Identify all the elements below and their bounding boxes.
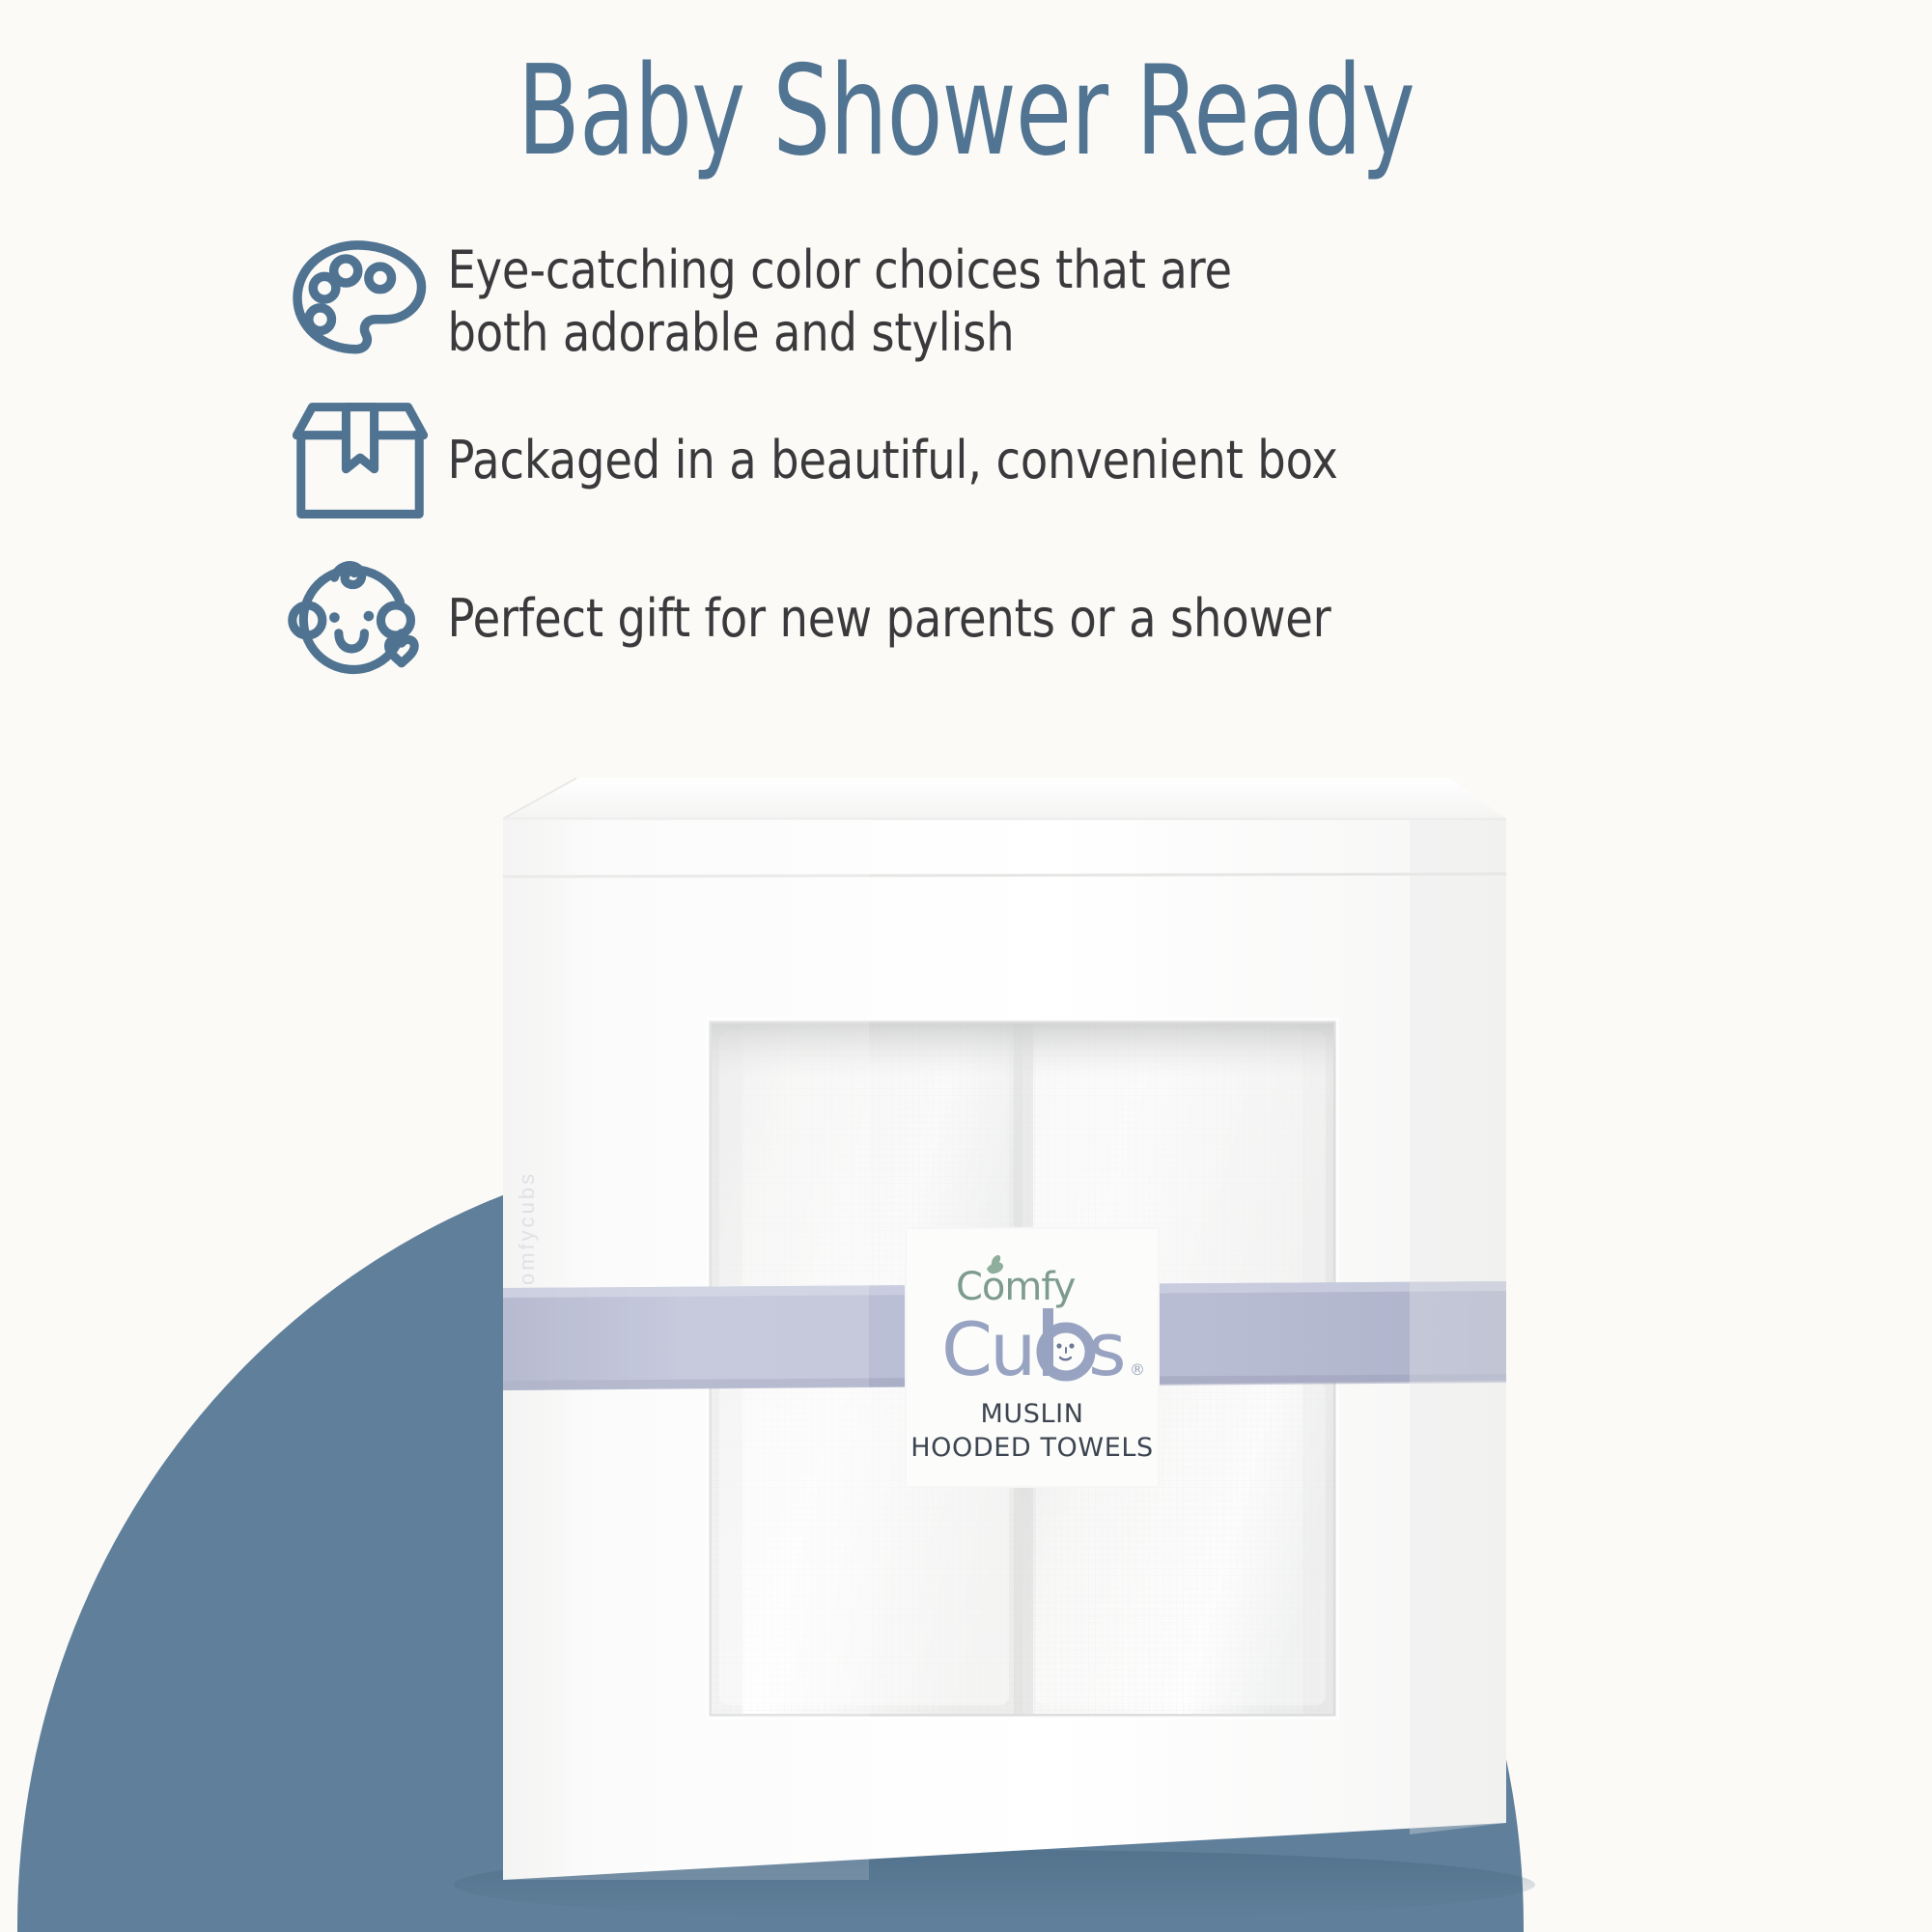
gift-box-icon xyxy=(275,388,444,533)
feature-item-label: Eye-catching color choices that are both… xyxy=(444,239,1232,365)
feature-list: Eye-catching color choices that are both… xyxy=(275,230,1704,705)
background-arc-shape xyxy=(17,1144,1524,1932)
page-title: Baby Shower Ready xyxy=(174,46,1758,178)
palette-icon xyxy=(275,230,444,375)
feature-item-gift: Perfect gift for new parents or a shower xyxy=(275,546,1704,691)
feature-item-label: Perfect gift for new parents or a shower xyxy=(444,588,1331,651)
baby-face-icon xyxy=(275,546,444,691)
feature-item-color-choices: Eye-catching color choices that are both… xyxy=(275,230,1704,375)
feature-item-label: Packaged in a beautiful, convenient box xyxy=(444,430,1338,492)
infographic-canvas: Baby Shower Ready Eye-catching color cho… xyxy=(0,0,1932,1932)
feature-item-packaging: Packaged in a beautiful, convenient box xyxy=(275,388,1704,533)
